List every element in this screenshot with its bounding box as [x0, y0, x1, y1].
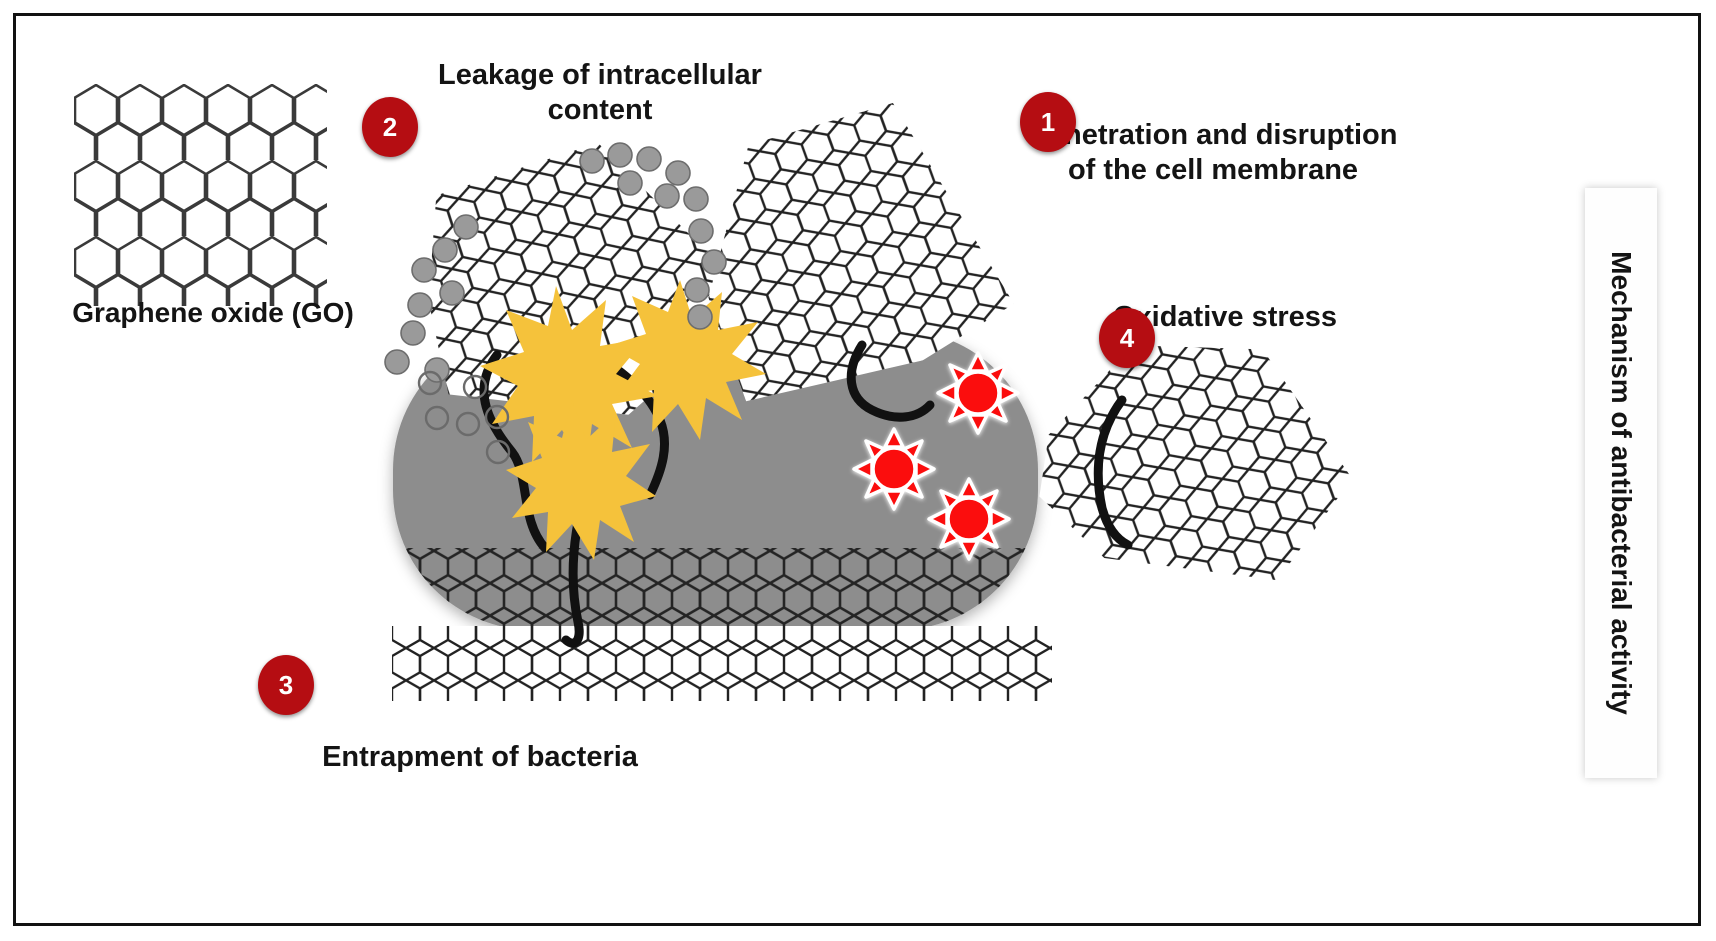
mechanism-badge-4: 4 [1099, 308, 1155, 368]
mechanism-badge-2: 2 [362, 97, 418, 157]
mechanism-badge-3: 3 [258, 655, 314, 715]
figure-border [13, 13, 1701, 926]
side-caption-text: Mechanism of antibacterial activity [1605, 251, 1637, 715]
label-entrapment-of-bacteria: Entrapment of bacteria [200, 740, 760, 775]
antibacterial-mechanism-figure: Graphene oxide (GO) Leakage of intracell… [0, 0, 1716, 941]
mechanism-badge-1: 1 [1020, 92, 1076, 152]
label-graphene-oxide: Graphene oxide (GO) [48, 296, 378, 330]
side-caption-panel: Mechanism of antibacterial activity [1585, 188, 1657, 778]
label-leakage-of-intracellular-content: Leakage of intracellular content [400, 58, 800, 129]
